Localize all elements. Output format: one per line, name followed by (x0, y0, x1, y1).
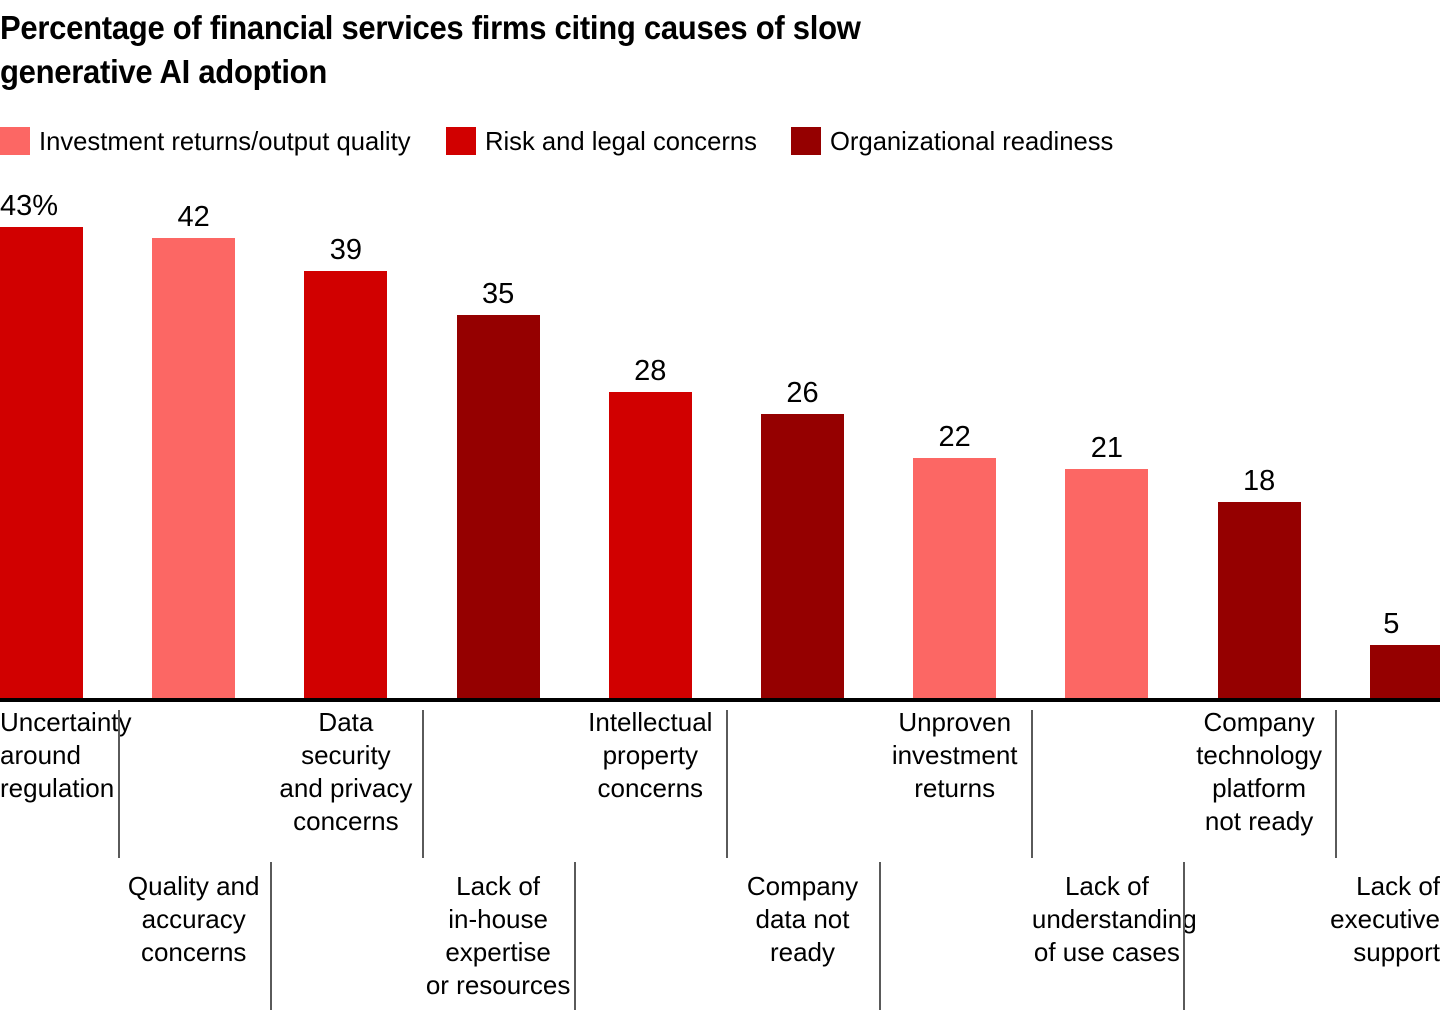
category-label: Data security and privacy concerns (271, 706, 421, 838)
bar (152, 238, 235, 700)
legend-item-investment-returns: Investment returns/output quality (0, 124, 416, 158)
x-axis-line (0, 698, 1440, 702)
bar-value-label: 42 (132, 202, 255, 232)
axis-tick (879, 862, 881, 1010)
bar (0, 227, 83, 700)
bar-value-label: 21 (1045, 433, 1168, 463)
bar (304, 271, 387, 700)
bar (609, 392, 692, 700)
bar-value-label: 35 (437, 279, 560, 309)
legend-swatch-icon (446, 127, 476, 155)
bar (1218, 502, 1301, 700)
bar (1370, 645, 1440, 700)
axis-tick (574, 862, 576, 1010)
chart-title: Percentage of financial services firms c… (0, 6, 1184, 94)
legend-swatch-icon (791, 127, 821, 155)
category-label: Company data not ready (728, 870, 878, 969)
legend-label: Risk and legal concerns (485, 126, 757, 156)
category-label: Lack of executive support (1290, 870, 1440, 969)
legend-label: Investment returns/output quality (39, 126, 411, 156)
bar-value-label: 5 (1330, 609, 1440, 639)
axis-tick (1183, 862, 1185, 1010)
legend-item-organizational-readiness: Organizational readiness (791, 124, 1118, 158)
category-label: Intellectual property concerns (575, 706, 725, 805)
plot-area: 43%42393528262221185 (0, 170, 1440, 700)
axis-tick (1335, 710, 1337, 858)
bar (1065, 469, 1148, 700)
bar-value-label: 22 (893, 422, 1016, 452)
category-label: Lack of understanding of use cases (1032, 870, 1182, 969)
bar (913, 458, 996, 700)
bar-value-label: 39 (284, 235, 407, 265)
category-label: Company technology platform not ready (1184, 706, 1334, 838)
bar (457, 315, 540, 700)
legend-item-risk-legal: Risk and legal concerns (446, 124, 761, 158)
axis-tick (726, 710, 728, 858)
category-label: Uncertainty around regulation (0, 706, 150, 805)
category-label: Lack of in-house expertise or resources (423, 870, 573, 1002)
axis-tick (1031, 710, 1033, 858)
legend-label: Organizational readiness (830, 126, 1113, 156)
axis-tick (118, 710, 120, 858)
category-label: Quality and accuracy concerns (119, 870, 269, 969)
category-label: Unproven investment returns (880, 706, 1030, 805)
bar (761, 414, 844, 700)
chart-legend: Investment returns/output quality Risk a… (0, 124, 1118, 158)
bar-value-label: 26 (741, 378, 864, 408)
axis-tick (270, 862, 272, 1010)
bar-value-label: 18 (1198, 466, 1321, 496)
bar-value-label: 43% (0, 191, 123, 221)
chart-page: Percentage of financial services firms c… (0, 0, 1440, 1013)
bar-value-label: 28 (589, 356, 712, 386)
legend-swatch-icon (0, 127, 30, 155)
axis-tick (422, 710, 424, 858)
